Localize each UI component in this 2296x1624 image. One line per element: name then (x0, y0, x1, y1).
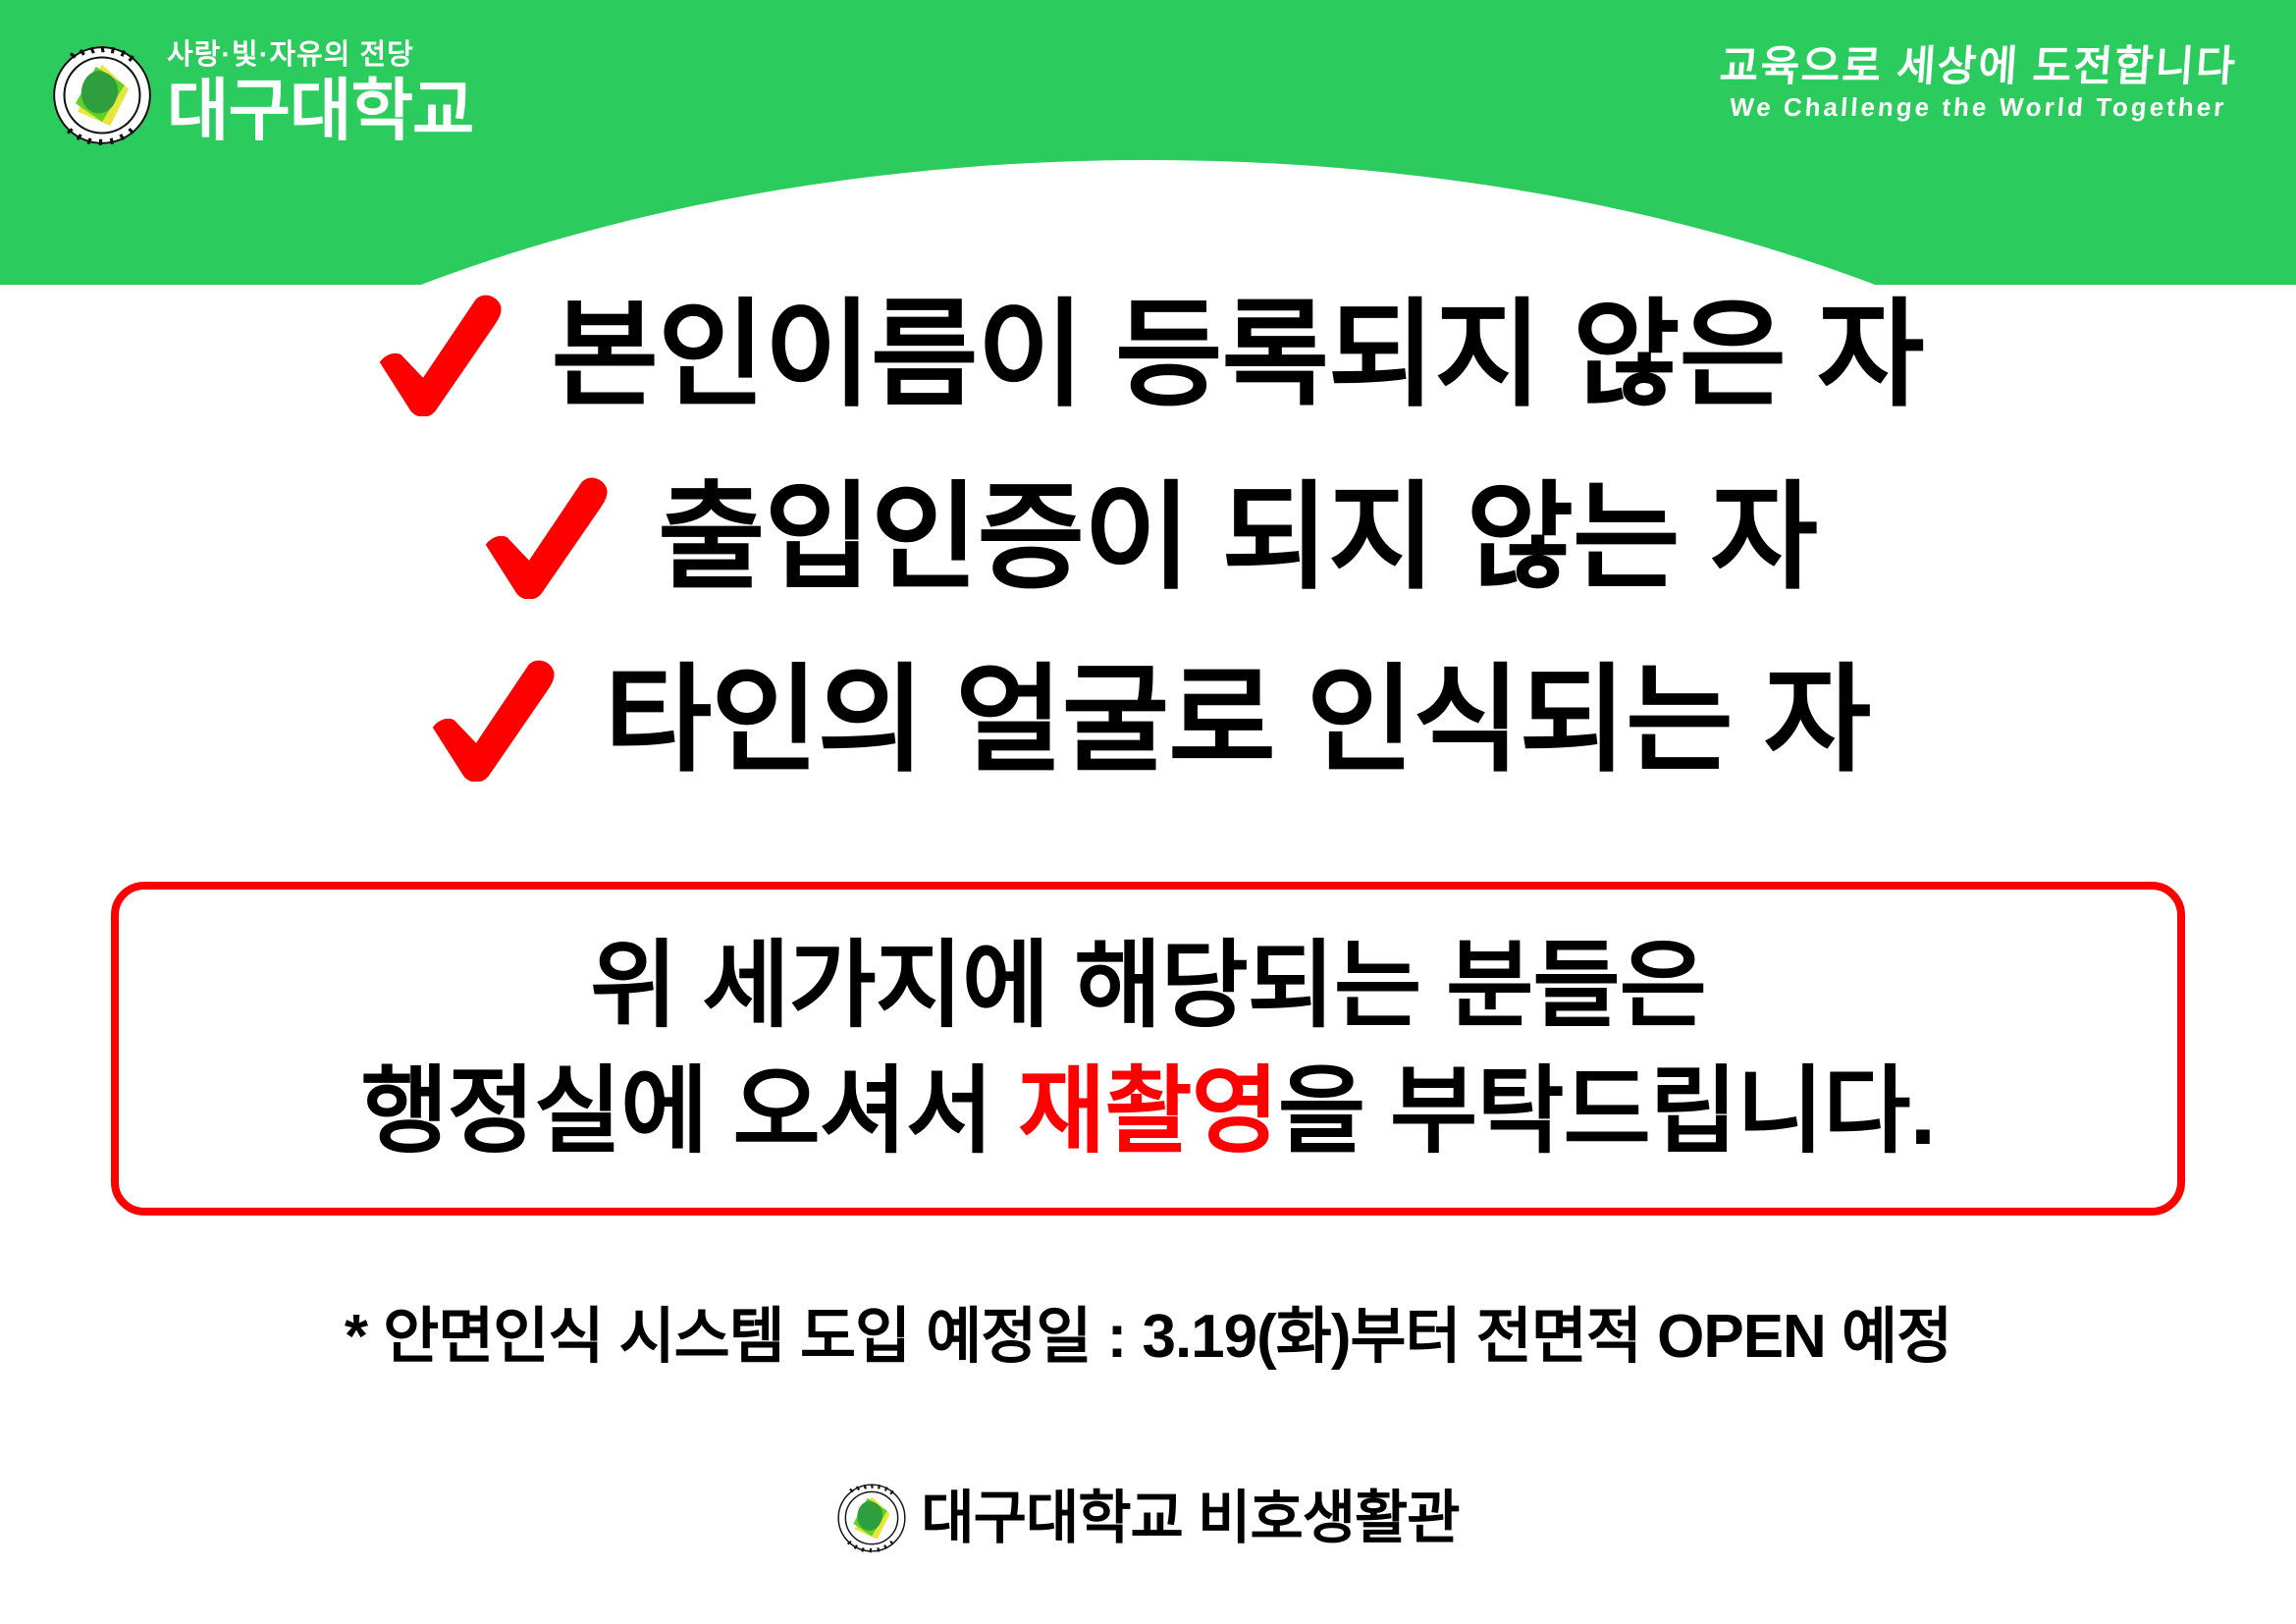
check-mark-icon (373, 293, 507, 416)
callout-line-two-suffix: 을 부탁드립니다. (1278, 1057, 1936, 1164)
university-seal-icon (836, 1483, 907, 1553)
footer-organization-lockup: 대구대학교 비호생활관 (0, 1483, 2296, 1553)
brand-tagline: 사랑·빛·자유의 전당 (167, 41, 414, 70)
checklist-item: 출입인증이 되지 않는 자 (0, 446, 2296, 628)
callout-line-two: 행정실에 오셔서 재촬영을 부탁드립니다. (361, 1049, 1936, 1174)
slogan-korean: 교육으로 세상에 도전합니다 (1719, 45, 2239, 89)
check-mark-icon (426, 658, 560, 782)
brand-text-block: 사랑·빛·자유의 전당 대구대학교 (167, 41, 473, 146)
callout-highlight-rephoto: 재촬영 (1018, 1057, 1278, 1164)
poster-root: 사랑·빛·자유의 전당 대구대학교 교육으로 세상에 도전합니다 We Chal… (0, 0, 2296, 1624)
checklist-item-text: 타인의 얼굴로 인식되는 자 (605, 662, 1870, 779)
footer-organization-name: 대구대학교 비호생활관 (921, 1489, 1459, 1547)
university-seal-icon (51, 44, 153, 146)
checklist-item-text: 출입인증이 되지 않는 자 (658, 479, 1817, 596)
brand-name: 대구대학교 (167, 77, 473, 144)
checklist-item: 본인이름이 등록되지 않은 자 (0, 263, 2296, 446)
callout-line-one: 위 세가지에 해당되는 분들은 (590, 923, 1706, 1049)
checklist: 본인이름이 등록되지 않은 자 출입인증이 되지 않는 자 타인의 얼굴로 인식… (0, 263, 2296, 811)
slogan-english: We Challenge the World Together (1719, 93, 2238, 122)
university-slogan: 교육으로 세상에 도전합니다 We Challenge the World To… (1720, 45, 2237, 122)
callout-line-two-prefix: 행정실에 오셔서 (361, 1057, 1019, 1164)
university-brand-lockup: 사랑·빛·자유의 전당 대구대학교 (51, 41, 473, 146)
checklist-item-text: 본인이름이 등록되지 않은 자 (552, 297, 1924, 413)
checklist-item: 타인의 얼굴로 인식되는 자 (0, 628, 2296, 811)
instruction-callout-box: 위 세가지에 해당되는 분들은 행정실에 오셔서 재촬영을 부탁드립니다. (111, 882, 2185, 1216)
footnote-schedule: * 안면인식 시스템 도입 예정일 : 3.19(화)부터 전면적 OPEN 예… (0, 1286, 2296, 1375)
check-mark-icon (479, 475, 613, 599)
